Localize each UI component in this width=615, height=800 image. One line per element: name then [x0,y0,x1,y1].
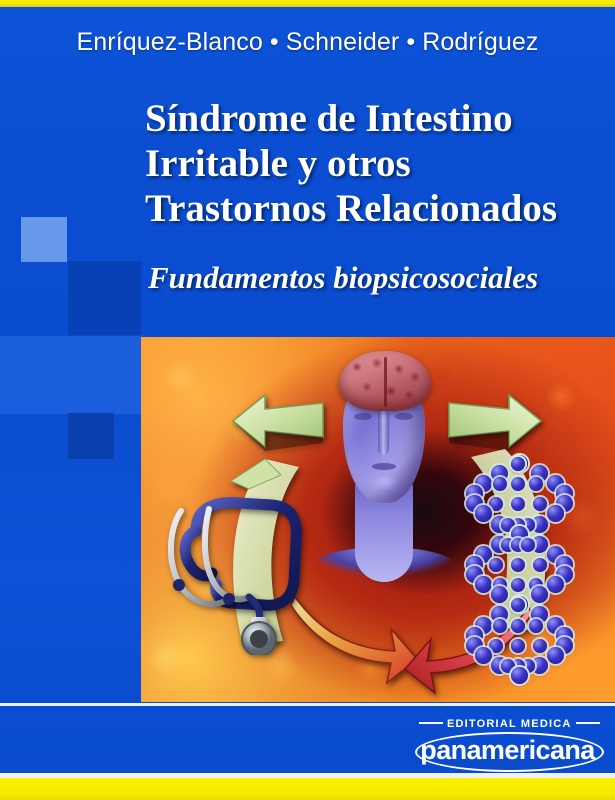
top-yellow-border [0,0,615,7]
eye-left-shape [354,413,372,420]
publisher-name: panamericana [415,735,600,765]
decorative-square-light-upper [21,217,67,262]
mouth-shape [372,463,396,470]
pink-arrow-left-icon [291,587,421,687]
dna-bead-rung [511,578,525,592]
dna-helix-icon [441,455,601,685]
dna-bead [547,647,564,664]
book-subtitle: Fundamentos biopsicosociales [148,260,615,296]
dna-bead-rung [529,619,543,633]
dna-bead-rung [533,497,547,511]
dna-bead [547,505,564,522]
title-line-3: Trastornos Relacionados [145,186,615,231]
dna-bead-rung [533,639,547,653]
dna-bead [531,586,548,603]
authors-line: Enríquez-Blanco • Schneider • Rodríguez [0,28,615,57]
dna-bead-rung [533,558,547,572]
dna-bead-rung [511,619,525,633]
dna-bead-rung [511,558,525,572]
dna-bead-rung [511,457,525,471]
dna-bead-rung [493,619,507,633]
book-title: Síndrome de Intestino Irritable y otros … [145,96,615,231]
dna-bead-rung [521,538,535,552]
dna-bead-rung [529,477,543,491]
brain-fissure [384,357,387,407]
eye-right-shape [395,413,413,420]
title-line-1: Síndrome de Intestino [145,96,615,141]
dna-bead [547,576,564,593]
logo-rule-right [576,722,600,724]
title-line-2: Irritable y otros [145,141,615,186]
publisher-tagline-text: EDITORIAL MEDICA [447,718,572,730]
dna-bead [475,647,492,664]
brain-icon [339,351,431,411]
footer-divider [0,703,615,706]
dna-bead [475,505,492,522]
dna-bead [475,576,492,593]
dna-bead-rung [511,639,525,653]
decorative-square-dark-lower [68,413,114,459]
dna-bead [511,667,528,684]
stethoscope-icon [163,505,303,655]
bottom-yellow-border [0,778,615,800]
dna-bead-rung [489,558,503,572]
cover-illustration [141,337,615,702]
green-arrow-left-icon [229,387,327,457]
publisher-tagline: EDITORIAL MEDICA [415,718,600,730]
chin-highlight [369,477,399,491]
dna-bead-rung [511,477,525,491]
brain-head-illustration [319,347,449,577]
decorative-band-light [0,336,141,414]
dna-bead-rung [511,497,525,511]
publisher-logo: EDITORIAL MEDICA panamericana [415,718,600,770]
book-cover: Enríquez-Blanco • Schneider • Rodríguez … [0,0,615,800]
decorative-square-dark-upper [68,261,141,335]
nose-shape [378,409,389,455]
logo-rule-left [419,722,443,724]
dna-bead [491,586,508,603]
dna-bead-rung [493,477,507,491]
